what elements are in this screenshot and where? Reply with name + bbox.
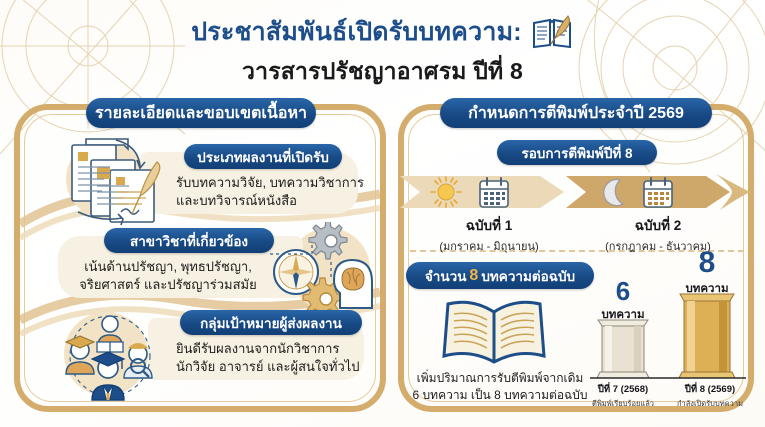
- types-text: รับบทความวิจัย, บทความวิชาการ และบทวิจาร…: [176, 174, 376, 211]
- fields-text: เน้นด้านปรัชญา, พุทธปรัชญา, จริยศาสตร์ แ…: [62, 258, 274, 295]
- publication-timeline: [400, 172, 752, 212]
- calendar-icon: [644, 178, 672, 207]
- issue-1-title: ฉบับที่ 1: [414, 214, 564, 236]
- target-pill: กลุ่มเป้าหมายผู้ส่งผลงาน: [180, 310, 362, 335]
- stacked-documents-quill-icon: [58, 134, 162, 226]
- issue-1-label: ฉบับที่ 1 (มกราคม - มิถุนายน): [414, 214, 564, 255]
- target-text: ยินดีรับผลงานจากนักวิชาการ นักวิจัย อาจา…: [176, 340, 372, 377]
- title-line-2: วารสารปรัชญาอาศรม ปีที่ 8: [0, 54, 765, 90]
- chart-category-2: ปีที่ 8 (2569): [668, 382, 752, 397]
- chart-caption-2: ปีที่ 8 (2569) กำลังเปิดรับบทความ: [668, 382, 752, 410]
- open-book-icon: [438, 294, 550, 368]
- chart-column-1: [597, 320, 649, 378]
- right-panel-heading: กำหนดการตีพิมพ์ประจำปี 2569: [440, 98, 712, 128]
- target-text-line-2: นักวิจัย อาจารย์ และผู้สนใจทั่วไป: [176, 358, 372, 376]
- infographic-root: ประชาสัมพันธ์เปิดรับบทความ: วารสารปรัชญา…: [0, 0, 765, 427]
- article-count-note: เพิ่มปริมาณการรับตีพิมพ์จากเดิม 6 บทความ…: [398, 370, 602, 405]
- left-panel-heading: รายละเอียดและขอบเขตเนื้อหา: [86, 98, 316, 128]
- issue-2-title: ฉบับที่ 2: [578, 214, 738, 236]
- issue-1-period: (มกราคม - มิถุนายน): [414, 237, 564, 255]
- target-text-line-1: ยินดีรับผลงานจากนักวิชาการ: [176, 340, 372, 358]
- fields-text-line-1: เน้นด้านปรัชญา, พุทธปรัชญา,: [62, 258, 274, 276]
- chart-category-1: ปีที่ 7 (2568): [586, 382, 660, 397]
- calendar-icon: [480, 178, 508, 207]
- open-book-quill-icon: [530, 14, 574, 52]
- count-pill-number: 8: [469, 267, 478, 285]
- chart-caption-1: ปีที่ 7 (2568) ตีพิมพ์เรียบร้อยแล้ว: [586, 382, 660, 410]
- title-line-1: ประชาสัมพันธ์เปิดรับบทความ:: [191, 18, 522, 48]
- compass-gears-brain-icon: [268, 222, 378, 318]
- article-count-pill: จำนวน 8 บทความต่อฉบับ: [406, 262, 594, 289]
- page-title: ประชาสัมพันธ์เปิดรับบทความ: วารสารปรัชญา…: [0, 14, 765, 90]
- graduates-group-icon: [58, 308, 162, 404]
- chart-column-2: [679, 294, 735, 378]
- fields-pill: สาขาวิชาที่เกี่ยวข้อง: [104, 228, 274, 253]
- chart-note-2: กำลังเปิดรับบทความ: [668, 398, 752, 410]
- sun-icon: [431, 177, 461, 207]
- count-pill-prefix: จำนวน: [425, 265, 467, 287]
- types-pill: ประเภทผลงานที่เปิดรับ: [184, 144, 342, 169]
- count-note-line-2: 6 บทความ เป็น 8 บทความต่อฉบับ: [398, 387, 602, 404]
- count-pill-suffix: บทความต่อฉบับ: [481, 265, 575, 287]
- types-text-line-2: และบทวิจารณ์หนังสือ: [176, 192, 376, 210]
- publication-cycle-pill: รอบการตีพิมพ์ปีที่ 8: [497, 140, 657, 165]
- fields-text-line-2: จริยศาสตร์ และปรัชญาร่วมสมัย: [62, 276, 274, 294]
- article-count-chart: 6 บทความ 8 บทความ: [588, 252, 752, 408]
- chart-note-1: ตีพิมพ์เรียบร้อยแล้ว: [586, 398, 660, 410]
- types-text-line-1: รับบทความวิจัย, บทความวิชาการ: [176, 174, 376, 192]
- count-note-line-1: เพิ่มปริมาณการรับตีพิมพ์จากเดิม: [398, 370, 602, 387]
